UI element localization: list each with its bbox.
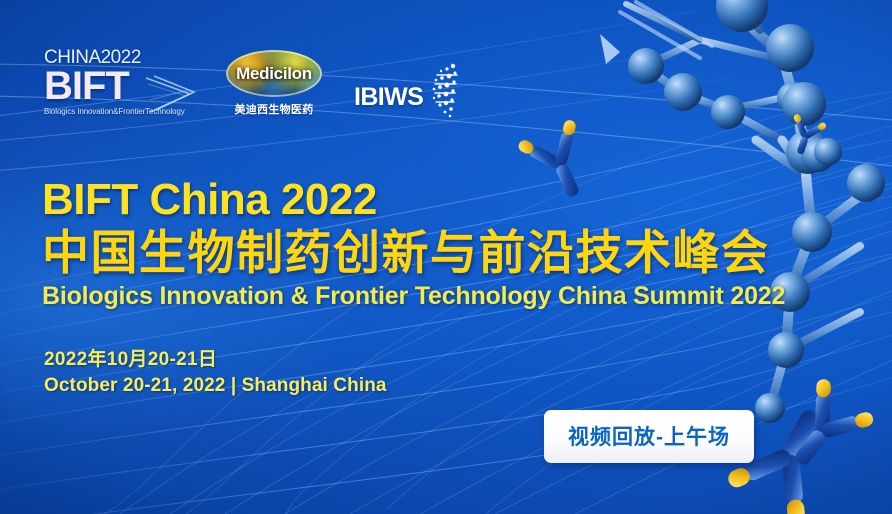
video-replay-button[interactable]: 视频回放-上午场 (544, 410, 754, 463)
ibiws-logo[interactable]: IBIWS (354, 48, 461, 120)
dna-helix-dots-icon (427, 62, 461, 120)
headline-block: BIFT China 2022 中国生物制药创新与前沿技术峰会 Biologic… (42, 178, 852, 310)
ibiws-wordmark: IBIWS (354, 83, 423, 112)
event-date-english: October 20-21, 2022 | Shanghai China (44, 373, 387, 399)
event-date-chinese: 2022年10月20-21日 (44, 347, 387, 373)
bift-tagline: Biologics Innovation&FrontierTechnology (44, 107, 194, 116)
chinese-title: 中国生物制药创新与前沿技术峰会 (42, 227, 852, 279)
bift-logo[interactable]: CHINA2022 BIFT Biologics Innovation&Fron… (44, 48, 194, 116)
english-subtitle: Biologics Innovation & Frontier Technolo… (42, 282, 852, 311)
page-title: BIFT China 2022 (42, 178, 852, 223)
bift-wordmark: BIFT (44, 68, 194, 105)
medicilon-wordmark: Medicilon (226, 50, 322, 97)
sponsor-logo-row: CHINA2022 BIFT Biologics Innovation&Fron… (44, 48, 461, 120)
medicilon-logo[interactable]: Medicilon 美迪西生物医药 (224, 48, 324, 117)
conference-banner: CHINA2022 BIFT Biologics Innovation&Fron… (0, 0, 892, 514)
medicilon-badge: Medicilon (226, 50, 322, 97)
event-info: 2022年10月20-21日 October 20-21, 2022 | Sha… (44, 347, 387, 398)
medicilon-chinese-name: 美迪西生物医药 (224, 101, 324, 117)
